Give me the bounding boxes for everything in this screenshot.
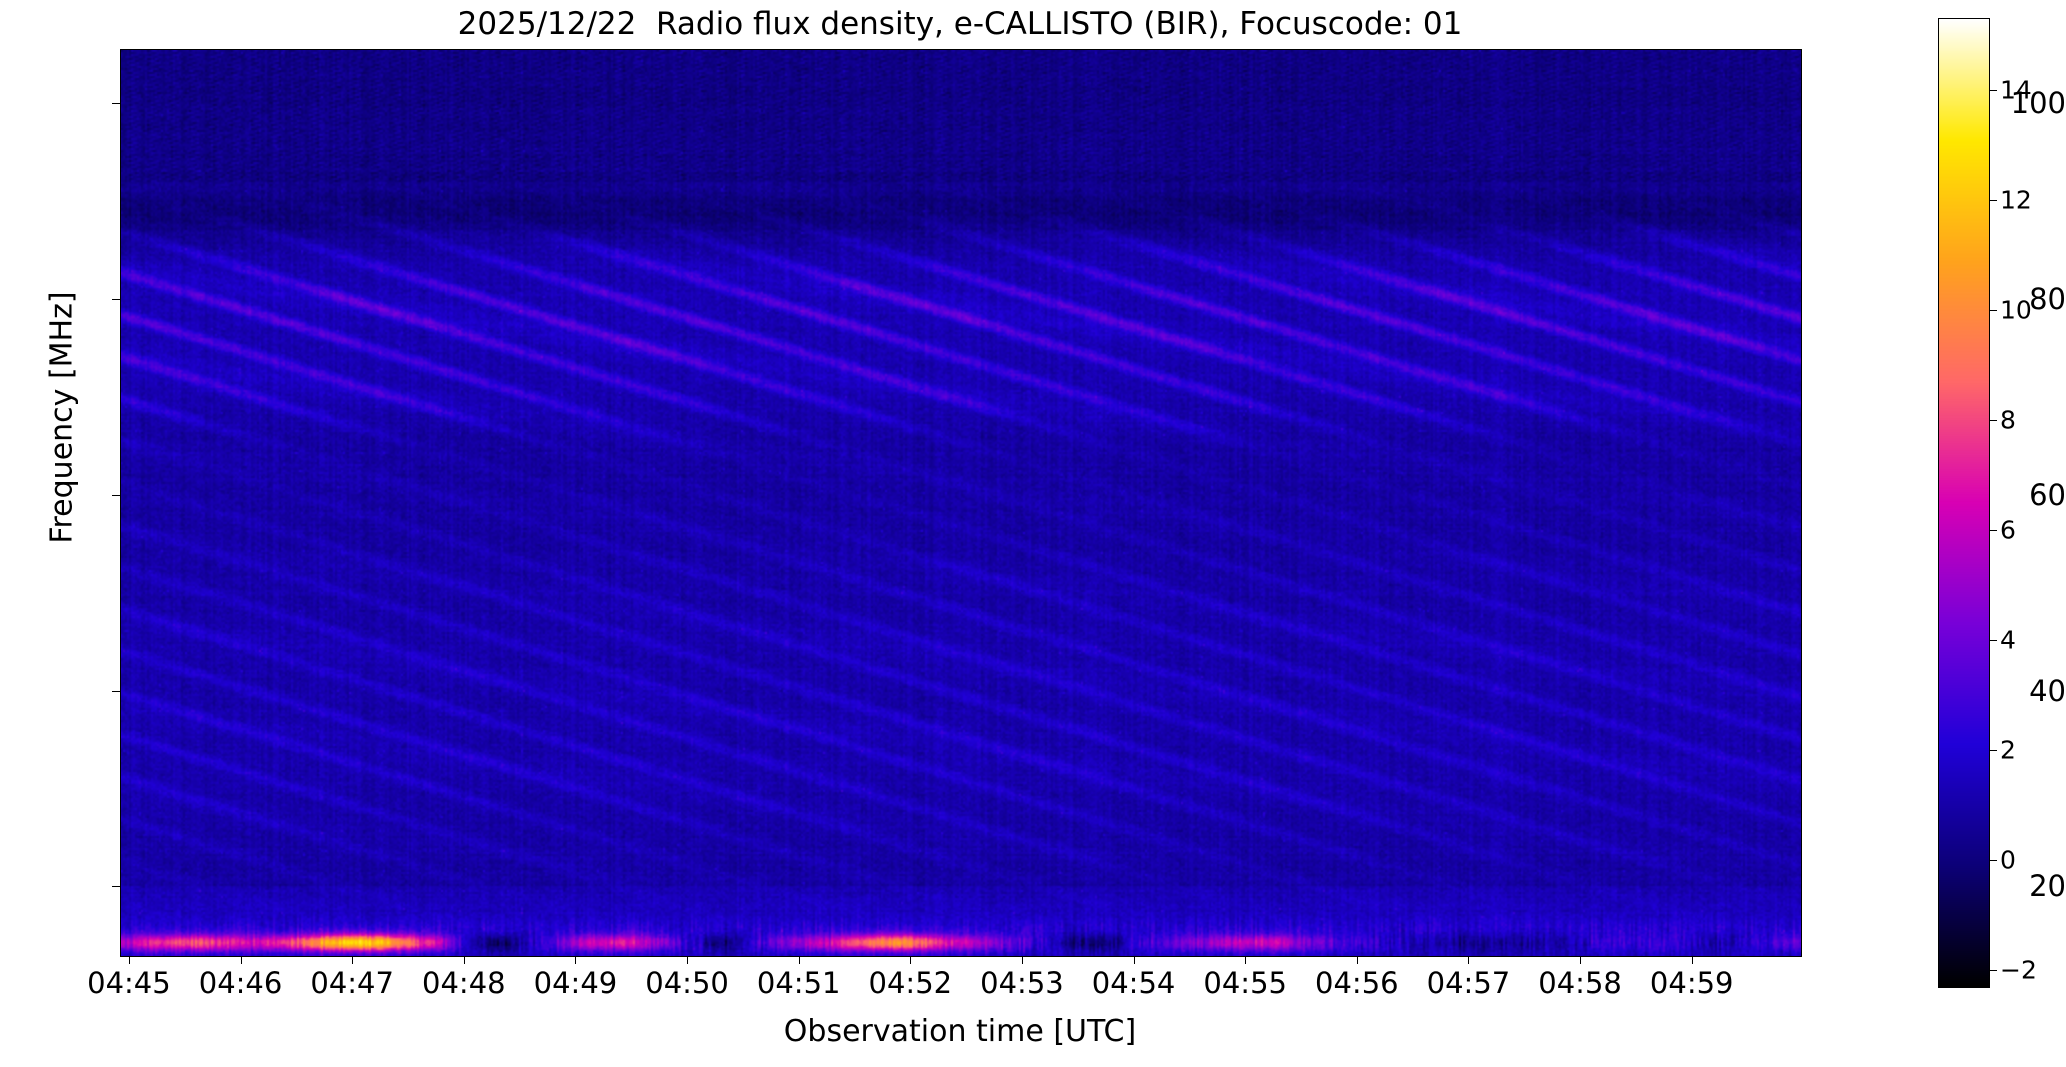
x-axis-tick-mark xyxy=(352,956,353,964)
colorbar-tick-mark xyxy=(1989,640,1997,641)
colorbar xyxy=(1938,18,1990,988)
y-axis-tick-mark xyxy=(112,299,120,300)
colorbar-tick-label: 10 xyxy=(2000,295,2032,324)
colorbar-tick-label: 4 xyxy=(2000,625,2016,654)
colorbar-tick-label: 2 xyxy=(2000,735,2016,764)
colorbar-tick-label: 0 xyxy=(2000,845,2016,874)
x-axis-tick-mark xyxy=(464,956,465,964)
figure-root: 2025/12/22 Radio flux density, e-CALLIST… xyxy=(0,0,2066,1067)
colorbar-gradient xyxy=(1939,19,1989,987)
y-axis-tick-mark xyxy=(112,886,120,887)
colorbar-tick-mark xyxy=(1989,310,1997,311)
y-axis-tick-mark xyxy=(112,691,120,692)
page-title: 2025/12/22 Radio flux density, e-CALLIST… xyxy=(120,4,1800,44)
colorbar-tick-mark xyxy=(1989,860,1997,861)
x-axis-tick-mark xyxy=(687,956,688,964)
x-axis-tick-mark xyxy=(799,956,800,964)
spectrogram-image xyxy=(121,50,1801,956)
x-axis-tick-mark xyxy=(1580,956,1581,964)
colorbar-tick-mark xyxy=(1989,750,1997,751)
x-axis-tick-mark xyxy=(241,956,242,964)
colorbar-tick-label: 6 xyxy=(2000,515,2016,544)
x-axis-label: Observation time [UTC] xyxy=(120,1014,1800,1049)
x-axis-tick-mark xyxy=(1357,956,1358,964)
x-axis-tick-mark xyxy=(1468,956,1469,964)
x-axis-tick-mark xyxy=(1692,956,1693,964)
colorbar-tick-mark xyxy=(1989,970,1997,971)
x-axis-tick-mark xyxy=(1022,956,1023,964)
x-axis-tick-label: 04:59 xyxy=(1612,966,1772,1000)
y-axis-tick-mark xyxy=(112,495,120,496)
y-axis-tick-mark xyxy=(112,103,120,104)
x-axis-tick-mark xyxy=(129,956,130,964)
colorbar-tick-mark xyxy=(1989,420,1997,421)
colorbar-tick-label: 14 xyxy=(2000,75,2032,104)
colorbar-tick-mark xyxy=(1989,90,1997,91)
x-axis-tick-mark xyxy=(1245,956,1246,964)
x-axis-tick-mark xyxy=(1134,956,1135,964)
colorbar-tick-mark xyxy=(1989,530,1997,531)
colorbar-tick-mark xyxy=(1989,200,1997,201)
colorbar-tick-label: 12 xyxy=(2000,185,2032,214)
x-axis-tick-mark xyxy=(575,956,576,964)
colorbar-tick-label: 8 xyxy=(2000,405,2016,434)
x-axis-tick-mark xyxy=(910,956,911,964)
colorbar-tick-label: −2 xyxy=(2000,955,2037,984)
spectrogram-axes xyxy=(120,49,1802,957)
y-axis-label: Frequency [MHz] xyxy=(45,38,80,798)
